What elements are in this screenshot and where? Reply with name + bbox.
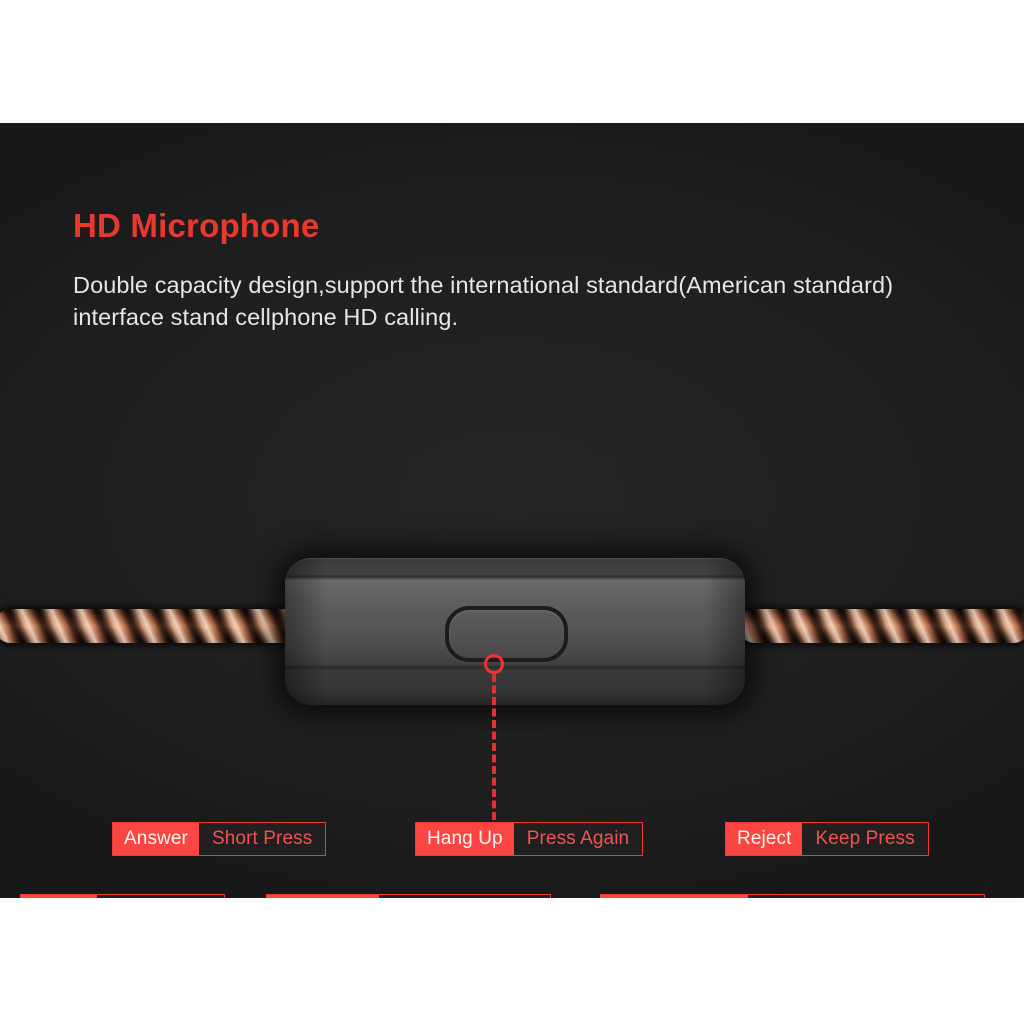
legend-badge-answer: Answer Short Press bbox=[112, 822, 326, 856]
product-infographic-page: HD Microphone Double capacity design,sup… bbox=[0, 0, 1024, 1024]
legend-action-label: Pause bbox=[21, 895, 97, 898]
control-legend: Answer Short Press Hang Up Press Again R… bbox=[0, 123, 1024, 898]
legend-action-label: Hang Up bbox=[416, 823, 514, 855]
legend-badge-hang-up: Hang Up Press Again bbox=[415, 822, 643, 856]
legend-gesture-label: Press Once bbox=[97, 895, 223, 898]
legend-gesture-label: Short Press bbox=[199, 823, 325, 855]
legend-gesture-label: Press Again bbox=[514, 823, 643, 855]
legend-action-label: Next Song bbox=[267, 895, 379, 898]
legend-badge-reject: Reject Keep Press bbox=[725, 822, 929, 856]
legend-badge-next-song: Next Song Press Two Times bbox=[266, 894, 551, 898]
legend-badge-previous-song: Previous Song Even Press Three Times bbox=[600, 894, 985, 898]
legend-action-label: Previous Song bbox=[601, 895, 748, 898]
legend-gesture-label: Even Press Three Times bbox=[748, 895, 984, 898]
dark-feature-banner: HD Microphone Double capacity design,sup… bbox=[0, 123, 1024, 898]
legend-gesture-label: Press Two Times bbox=[379, 895, 551, 898]
legend-action-label: Answer bbox=[113, 823, 199, 855]
legend-badge-pause: Pause Press Once bbox=[20, 894, 225, 898]
legend-action-label: Reject bbox=[726, 823, 802, 855]
legend-gesture-label: Keep Press bbox=[802, 823, 927, 855]
